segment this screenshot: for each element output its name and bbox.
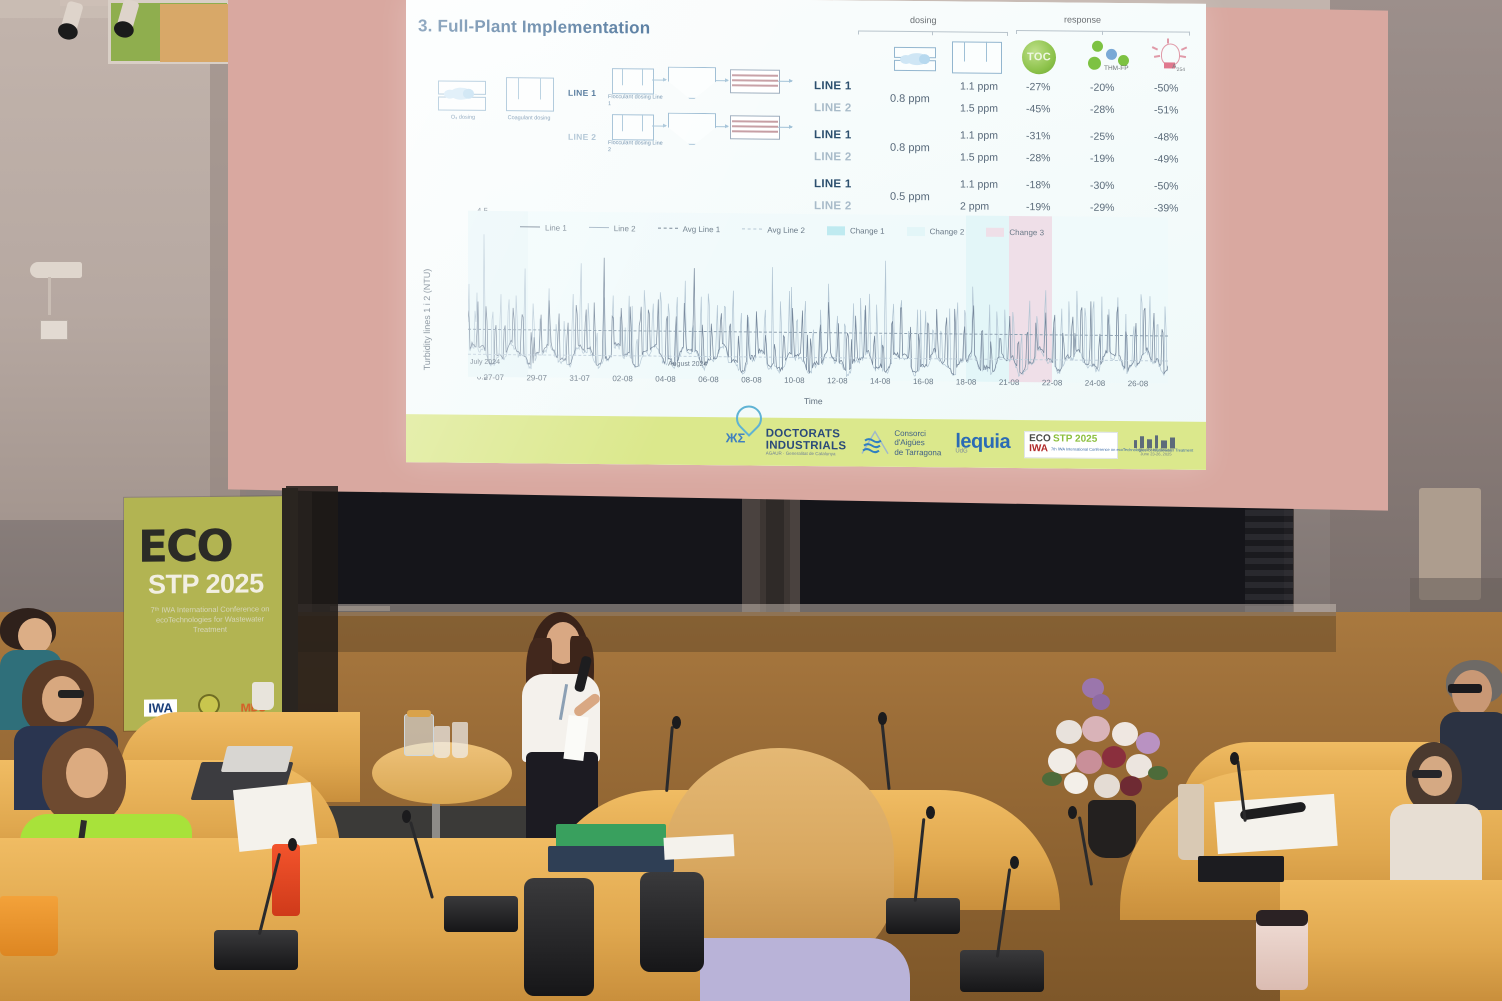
consorci-line1: Consorci [894,428,926,437]
toc-response-value: -27% [1026,81,1051,93]
legend-swatch [589,227,609,230]
coagulant-dosing-label: Coagulant dosing [500,115,558,122]
legend-swatch [658,228,678,231]
stockholm-venue-logo: Stockholm, Sweden June 23-26, 2025 [1132,434,1180,457]
a254-response-value: -51% [1154,104,1179,116]
flocculant-line1-label: Flocculant dosing Line 1 [608,94,664,108]
ozone-dosing-label: O₃ dosing [432,114,494,121]
flower-bouquet [1040,676,1190,806]
month-marker: August 2024 [668,361,707,368]
table-row-line: LINE 2 [814,102,852,114]
chart-x-tick-label: 22-08 [1042,378,1062,387]
thm-response-value: -25% [1090,131,1115,143]
eyeglasses-icon [58,690,84,698]
ozone-dose-value: 0.8 ppm [890,93,930,105]
a254-label: A254 [1172,64,1185,74]
blue-book [548,846,674,872]
water-bottle [272,844,300,916]
flocculant-line2-label: Flocculant dosing Line 2 [608,140,664,154]
chart-x-tick-label: 26-08 [1128,379,1148,388]
chart-x-tick-label: 10-08 [784,376,804,385]
thm-response-value: -20% [1090,82,1115,94]
chart-y-axis-label: Turbidity lines 1 i 2 (NTU) [422,269,432,371]
chart-x-tick-label: 31-07 [569,374,589,383]
ozone-dose-value: 0.5 ppm [890,191,930,203]
line-1-label: LINE 1 [568,88,596,98]
table-row-line: LINE 2 [814,151,852,163]
banner-pole [282,488,298,738]
cup-lid [1256,910,1308,926]
line-2-label: LINE 2 [568,132,596,142]
consorci-line2: d'Aigües [894,438,924,447]
banner-subtitle: 7ᵗʰ IWA International Conference on ecoT… [148,604,272,636]
legend-label: Line 2 [614,224,636,233]
banner-eco-wordmark: ECO [138,521,232,573]
table-row-line: LINE 1 [814,178,852,190]
toc-icon: TOC [1022,40,1056,74]
consorci-aigues-tarragona-logo: Consorci d'Aigües de Tarragona [860,428,941,458]
projected-slide: 3. Full-Plant Implementation O₃ dosing C… [406,0,1206,470]
coagulant-dose-value: 1.5 ppm [960,102,998,114]
desk-microphone-base [960,950,1044,992]
drinking-cup [434,726,450,758]
chart-x-tick-label: 24-08 [1085,379,1105,388]
month-marker: July 2024 [470,359,500,366]
spiral-notebook [1198,856,1284,882]
wall-socket [40,320,68,340]
wall-projector [30,262,82,278]
chart-y-ticks: 0.00.51.01.52.02.53.03.54.04.5 [424,202,1190,209]
toc-response-value: -18% [1026,179,1051,191]
desk-microphone-base [640,872,704,972]
thm-fp-molecule-icon: THM-FP [1086,41,1132,75]
chart-x-axis-label: Time [804,396,823,406]
eco-text: ECO [1029,433,1051,444]
chart-x-tick-label: 04-08 [655,375,675,384]
chart-legend-item: Line 2 [589,224,636,233]
a254-response-value: -50% [1154,82,1179,94]
stp-text: STP 2025 [1053,433,1097,444]
doctorats-title: DOCTORATS [766,427,847,440]
chart-plot-area: Line 1Line 2Avg Line 1Avg Line 2Change 1… [468,211,1168,384]
printed-paper [1214,794,1337,854]
process-flow-diagram: O₃ dosing Coagulant dosing LINE 1 LINE 2… [428,64,758,167]
chart-x-tick-label: 18-08 [956,377,976,386]
legend-swatch [520,226,540,229]
desk-microphone-head [878,712,887,725]
table-row-line: LINE 1 [814,80,852,92]
toc-response-value: -45% [1026,103,1051,115]
desk-microphone-head [672,716,681,729]
desk-microphone-head [288,838,297,851]
desk-microphone-head [1010,856,1019,869]
chart-x-ticks: 27-0729-0731-0702-0804-0806-0808-0810-08… [424,202,1190,209]
response-group-header: response [1064,14,1101,24]
coffee-cup [252,682,274,710]
desk-microphone-head [1230,752,1239,765]
printed-paper [233,782,317,852]
floor-shadow [236,612,1336,652]
slide-title: 3. Full-Plant Implementation [418,16,650,38]
chart-x-tick-label: 12-08 [827,376,847,385]
toc-response-value: -28% [1026,152,1051,164]
sponsor-logo-row: ЖΣ DOCTORATS INDUSTRIALS AGAUR · General… [406,414,1206,470]
eyeglasses-icon [1448,684,1482,693]
eyeglasses-icon [1412,770,1442,778]
desk-microphone-head [1068,806,1077,819]
results-table: dosing response [814,8,1200,12]
lecture-room-photo: 3. Full-Plant Implementation O₃ dosing C… [0,0,1502,1001]
a254-response-value: -49% [1154,153,1179,165]
turbidity-time-series-chart: Turbidity lines 1 i 2 (NTU) 0.00.51.01.5… [424,202,1190,415]
desk-right-lower [1280,880,1502,1001]
laptop-screen [221,746,293,772]
thm-response-value: -28% [1090,104,1115,116]
chart-x-tick-label: 16-08 [913,377,933,386]
toc-response-value: -31% [1026,130,1051,142]
legend-swatch [986,228,1004,237]
iwa-mark: IWA [1029,444,1048,455]
coagulant-dose-value: 1.1 ppm [960,80,998,92]
coagulant-dosing-icon [952,39,1000,73]
chart-x-tick-label: 29-07 [526,373,546,382]
chart-legend-item: Change 3 [986,228,1044,238]
chart-x-tick-label: 02-08 [612,374,632,383]
ozone-dose-value: 0.8 ppm [890,142,930,154]
flower-vase [1088,800,1136,858]
thm-response-value: -30% [1090,180,1115,192]
slide-content: 3. Full-Plant Implementation O₃ dosing C… [406,0,1206,470]
left-wall [0,0,240,520]
desk-microphone-head [402,810,411,823]
water-bottle [1178,784,1204,860]
iwa-ecostp-logo: ECO STP 2025 IWA 7th IWA International C… [1024,431,1118,459]
ozone-cloud-icon [450,88,472,100]
chart-legend-item: Avg Line 1 [658,225,721,235]
legend-label: Avg Line 2 [767,226,805,235]
water-pitcher [404,714,434,756]
chart-x-tick-label: 14-08 [870,377,890,386]
chart-x-tick-label: 27-07 [484,373,504,382]
legend-label: Avg Line 1 [683,225,721,234]
chart-x-tick-label: 08-08 [741,375,761,384]
coagulant-dose-value: 1.1 ppm [960,178,998,190]
uv-absorbance-bulb-icon: A254 [1150,39,1190,75]
audience-member-right-front [1384,742,1484,892]
legend-swatch [907,227,925,236]
dosing-group-header: dosing [910,15,937,25]
desk-microphone-base [444,896,518,932]
chart-x-tick-label: 21-08 [999,378,1019,387]
coagulant-dose-value: 1.5 ppm [960,151,998,163]
papers [663,834,734,860]
water-wave-icon [860,430,890,456]
desk-microphone-head [926,806,935,819]
consorci-line3: de Tarragona [894,448,941,457]
desk-microphone-base [886,898,960,934]
legend-label: Line 1 [545,223,567,232]
toc-icon-label: TOC [1022,40,1056,74]
generalitat-logo: ЖΣ [726,431,752,451]
legend-label: Change 1 [850,226,885,235]
desk-microphone-base [214,930,298,970]
doctorats-industrials-logo: DOCTORATS INDUSTRIALS AGAUR · Generalita… [766,427,847,457]
thm-fp-label: THM-FP [1104,65,1129,72]
banner-stp-wordmark: STP 2025 [148,568,264,600]
chart-legend-item: Change 1 [827,226,885,236]
drinking-cup [452,722,468,758]
desk-microphone-base [524,878,594,996]
legend-swatch [827,226,845,235]
generalitat-mark-icon: ЖΣ [726,431,752,451]
legend-swatch [742,228,762,231]
legend-label: Change 2 [930,227,965,236]
legend-label: Change 3 [1009,228,1044,237]
conference-subtitle: 7th IWA International Conference on ecoT… [1051,447,1113,452]
a254-response-value: -50% [1154,180,1179,192]
table-row-line: LINE 1 [814,129,852,141]
venue-dates: June 23-26, 2025 [1132,452,1180,457]
coffee-cup [0,896,58,956]
chart-x-tick-label: 06-08 [698,375,718,384]
a254-response-value: -48% [1154,131,1179,143]
chart-legend-item: Change 2 [907,227,965,237]
thm-response-value: -19% [1090,153,1115,165]
chart-legend-item: Line 1 [520,223,567,232]
doctorats-subtitle: AGAUR · Generalitat de Catalunya [766,451,847,456]
coagulant-dose-value: 1.1 ppm [960,129,998,141]
lequia-logo: lequia UdG [955,432,1010,456]
chart-legend-item: Avg Line 2 [742,225,805,235]
